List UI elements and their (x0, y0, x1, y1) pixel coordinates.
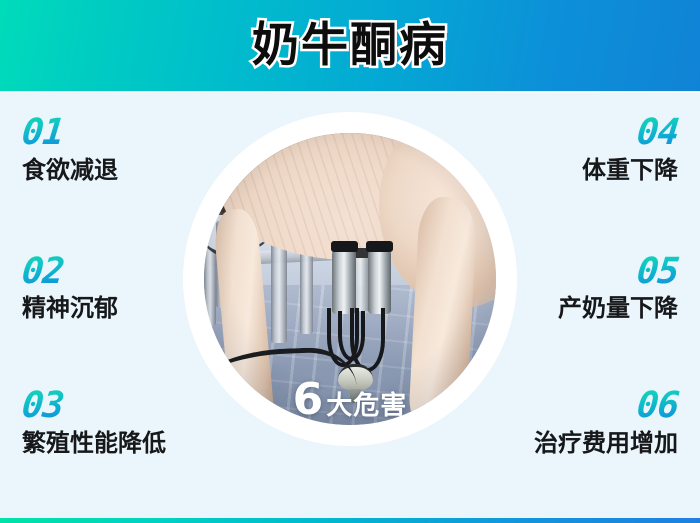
item-number: 03 (20, 387, 65, 425)
item-number: 05 (635, 253, 680, 291)
header-banner: 奶牛酮病 (0, 0, 700, 92)
infographic-poster: 奶牛酮病 01 食欲减退 02 精神沉郁 03 繁殖性能降低 04 体重下降 0… (0, 0, 700, 523)
item-number: 02 (20, 253, 65, 291)
caption-number: 6 (293, 378, 324, 422)
bottom-accent-bar (0, 518, 700, 523)
item-label: 治疗费用增加 (443, 429, 678, 458)
item-number: 01 (20, 114, 65, 152)
item-number: 04 (635, 114, 680, 152)
item-number: 06 (635, 387, 680, 425)
header-divider (0, 91, 700, 93)
caption-text: 大危害 (326, 393, 407, 419)
center-caption: 6 大危害 (204, 378, 496, 422)
page-title: 奶牛酮病 (252, 22, 448, 69)
milking-cow-photo: 6 大危害 (204, 133, 496, 425)
item-label: 繁殖性能降低 (22, 429, 252, 458)
center-circle-frame: 6 大危害 (183, 112, 517, 446)
